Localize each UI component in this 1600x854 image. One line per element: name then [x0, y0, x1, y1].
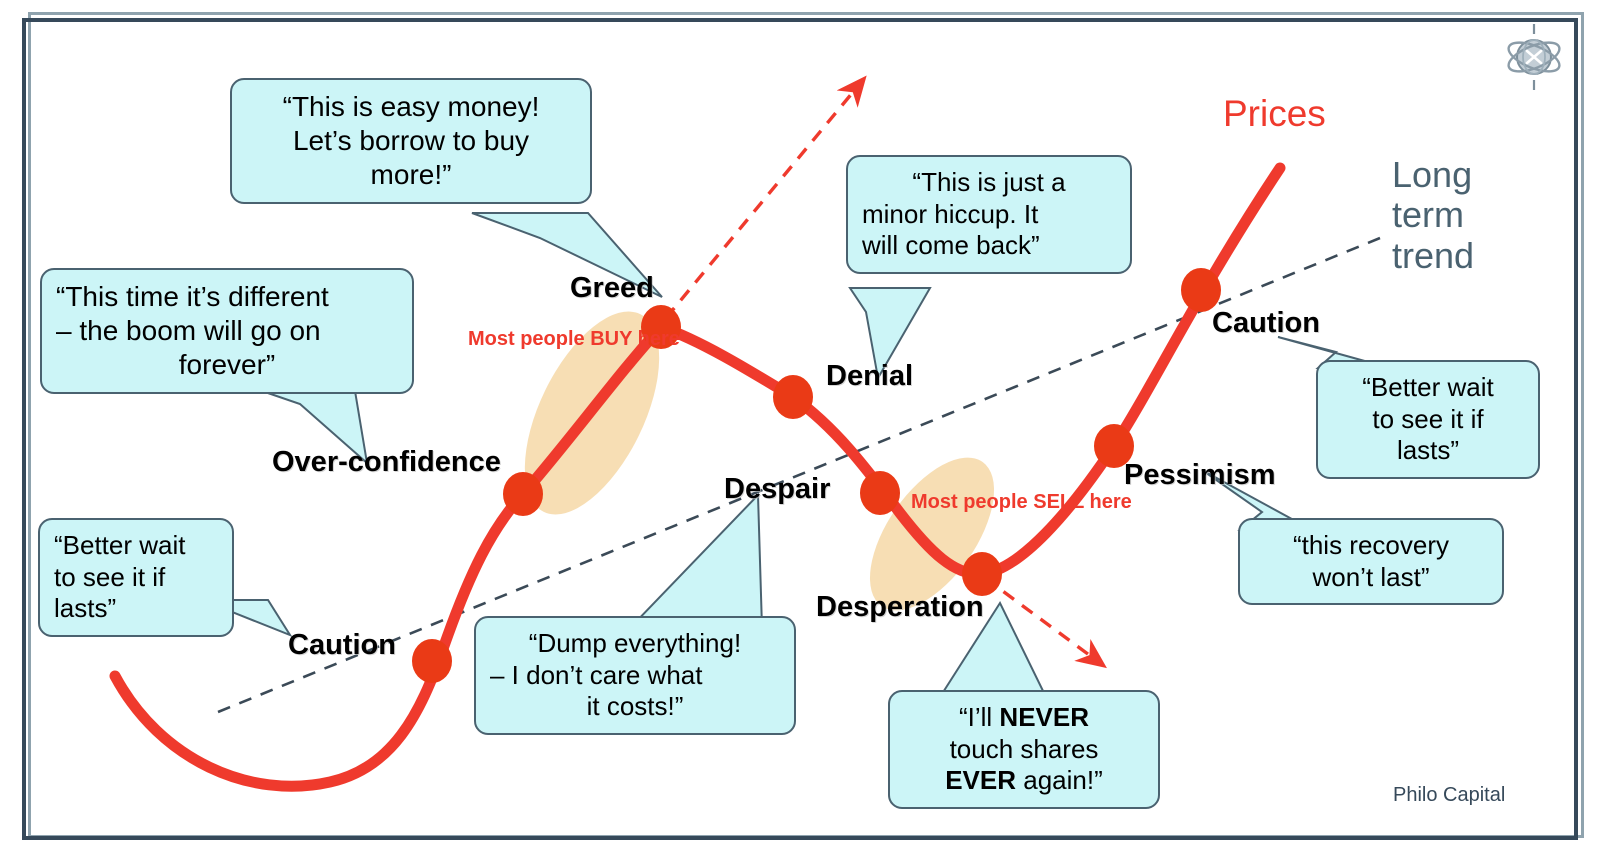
bubble-easy-money: “This is easy money! Let’s borrow to buy… — [230, 78, 592, 204]
bubble-easy-money-line-2: Let’s borrow to buy — [246, 124, 576, 158]
node-caution-left — [412, 639, 452, 683]
attribution-text: Philo Capital — [1393, 784, 1505, 807]
bubble-this-time-line-3: forever” — [56, 348, 398, 382]
bubble-this-time-line-2: – the boom will go on — [56, 314, 398, 348]
market-cycle-diagram: Caution Over-confidence Greed Denial Des… — [0, 0, 1600, 854]
stage-label-pessimism: Pessimism — [1124, 459, 1276, 492]
stage-label-denial: Denial — [826, 360, 913, 393]
bubble-recovery-line-2: won’t last” — [1254, 562, 1488, 594]
node-despair — [860, 471, 900, 515]
bubble-better-wait-left-line-1: “Better wait — [54, 530, 218, 562]
bubble-better-wait-right: “Better wait to see it if lasts” — [1316, 360, 1540, 479]
bubble-this-time: “This time it’s different – the boom wil… — [40, 268, 414, 394]
bubble-better-wait-right-line-2: to see it if — [1332, 404, 1524, 436]
trend-label-line-2: term — [1392, 195, 1474, 235]
stage-label-caution-right: Caution — [1212, 307, 1320, 340]
bubble-minor-hiccup-line-2: minor hiccup. It — [862, 199, 1116, 231]
bubble-never-again-line-2: touch shares — [904, 734, 1144, 766]
gyroscope-logo-icon — [1503, 22, 1565, 92]
bubble-minor-hiccup-line-3: will come back” — [862, 230, 1116, 262]
never-again-suffix: again!” — [1016, 765, 1103, 795]
buy-note-line-1: Most people — [468, 328, 585, 350]
long-term-trend-label: Long term trend — [1392, 155, 1474, 276]
never-emphasis: NEVER — [999, 702, 1089, 732]
bubble-better-wait-right-line-3: lasts” — [1332, 435, 1524, 467]
bubble-dump-everything-line-3: it costs!” — [490, 691, 780, 723]
stage-label-despair: Despair — [724, 473, 830, 506]
prices-axis-label: Prices — [1223, 93, 1326, 135]
sell-note-line-1: Most people — [911, 491, 1028, 513]
node-over-confidence — [503, 472, 543, 516]
boom-projection-arrow — [666, 86, 858, 318]
stage-label-desperation: Desperation — [816, 591, 984, 624]
buy-note-line-2: BUY here — [590, 328, 680, 350]
ever-emphasis: EVER — [945, 765, 1016, 795]
bubble-never-again-line-1: “I’ll NEVER — [904, 702, 1144, 734]
bubble-this-time-line-1: “This time it’s different — [56, 280, 398, 314]
stage-label-greed: Greed — [570, 272, 654, 305]
node-desperation — [962, 552, 1002, 596]
node-caution-right — [1181, 268, 1221, 312]
stage-label-over-confidence: Over-confidence — [272, 446, 501, 479]
sell-here-note: Most people SELL here — [911, 490, 1132, 514]
bubble-better-wait-left-line-3: lasts” — [54, 593, 218, 625]
bubble-never-again-line-3: EVER again!” — [904, 765, 1144, 797]
bubble-better-wait-left: “Better wait to see it if lasts” — [38, 518, 234, 637]
tail-dump-everything — [630, 495, 762, 628]
stage-label-caution-left: Caution — [288, 629, 396, 662]
bubble-better-wait-right-line-1: “Better wait — [1332, 372, 1524, 404]
bubble-dump-everything: “Dump everything! – I don’t care what it… — [474, 616, 796, 735]
bubble-recovery-wont-last: “this recovery won’t last” — [1238, 518, 1504, 605]
bubble-minor-hiccup: “This is just a minor hiccup. It will co… — [846, 155, 1132, 274]
bubble-never-again: “I’ll NEVER touch shares EVER again!” — [888, 690, 1160, 809]
bubble-dump-everything-line-1: “Dump everything! — [490, 628, 780, 660]
buy-here-note: Most people BUY here — [468, 327, 680, 351]
bubble-easy-money-line-3: more!” — [246, 158, 576, 192]
node-denial — [773, 375, 813, 419]
bubble-recovery-line-1: “this recovery — [1254, 530, 1488, 562]
bubble-minor-hiccup-line-1: “This is just a — [862, 167, 1116, 199]
bubble-better-wait-left-line-2: to see it if — [54, 562, 218, 594]
trend-label-line-3: trend — [1392, 236, 1474, 276]
trend-label-line-1: Long — [1392, 155, 1474, 195]
sell-note-line-2: SELL here — [1033, 491, 1132, 513]
bubble-dump-everything-line-2: – I don’t care what — [490, 660, 780, 692]
bubble-easy-money-line-1: “This is easy money! — [246, 90, 576, 124]
never-again-prefix: “I’ll — [959, 702, 999, 732]
